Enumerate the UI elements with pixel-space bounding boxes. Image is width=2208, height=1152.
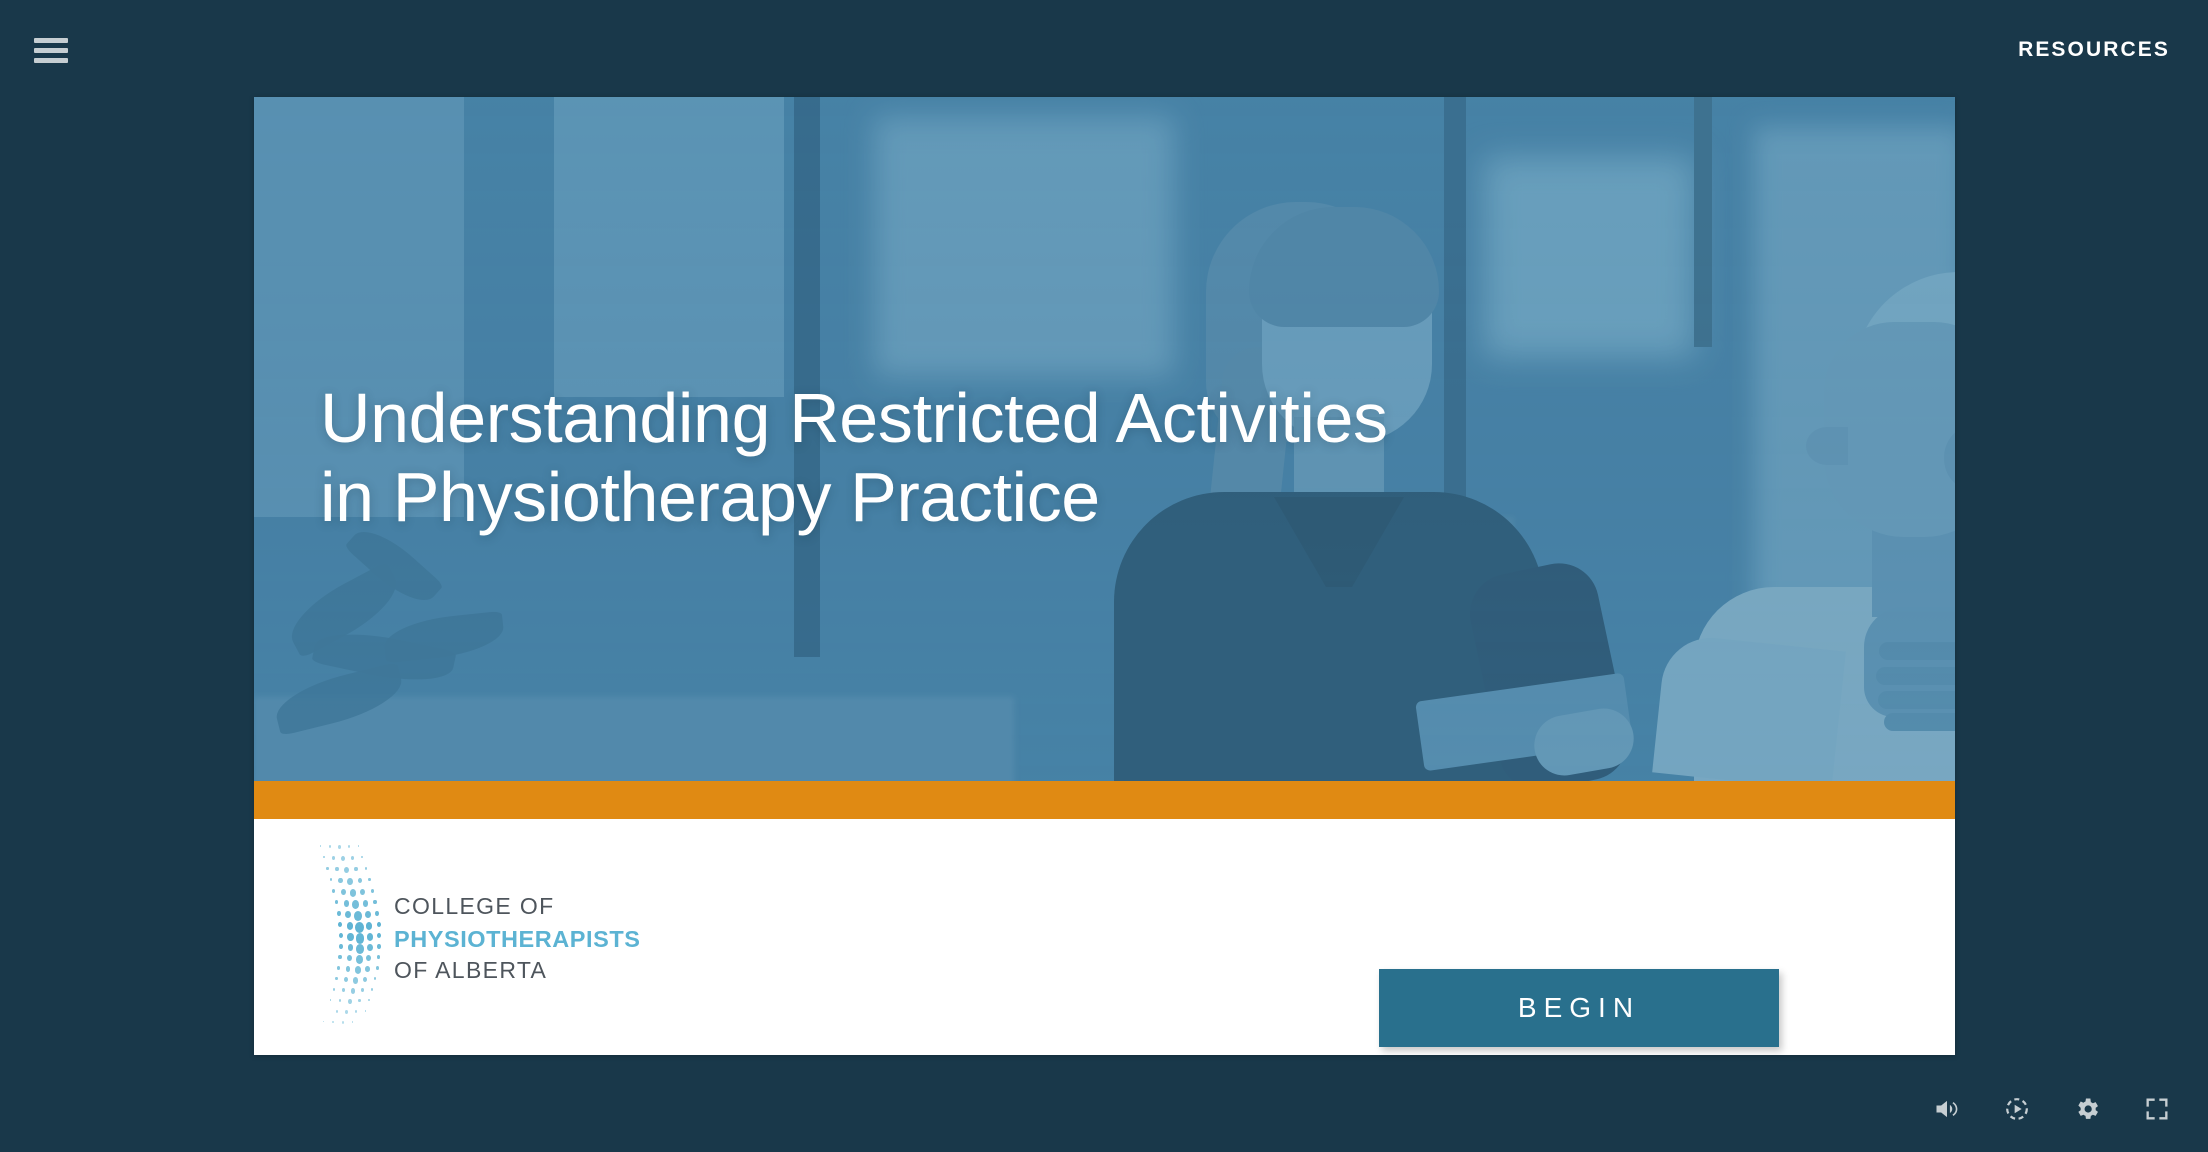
resources-link[interactable]: RESOURCES xyxy=(2018,38,2170,62)
spine-halftone-dots-icon xyxy=(306,841,380,1031)
accent-divider xyxy=(254,781,1955,819)
hamburger-bar-3 xyxy=(34,58,68,63)
player-controls xyxy=(1932,1094,2172,1124)
logo-line-2: PHYSIOTHERAPISTS xyxy=(394,923,640,955)
top-bar: RESOURCES xyxy=(0,0,2208,100)
page-title-line-1: Understanding Restricted Activities xyxy=(320,379,1388,457)
logo-line-1: COLLEGE OF xyxy=(394,891,640,923)
slide-footer: COLLEGE OF PHYSIOTHERAPISTS OF ALBERTA B… xyxy=(254,819,1955,1055)
hamburger-menu-icon[interactable] xyxy=(30,29,72,71)
replay-icon[interactable] xyxy=(2002,1094,2032,1124)
logo-wordmark: COLLEGE OF PHYSIOTHERAPISTS OF ALBERTA xyxy=(394,885,640,987)
begin-button[interactable]: BEGIN xyxy=(1379,969,1779,1047)
settings-icon[interactable] xyxy=(2072,1094,2102,1124)
page-title: Understanding Restricted Activities in P… xyxy=(320,379,1800,537)
hero-image: Understanding Restricted Activities in P… xyxy=(254,97,1955,781)
hamburger-bar-1 xyxy=(34,38,68,43)
page-title-line-2: in Physiotherapy Practice xyxy=(320,458,1800,537)
slide-card: Understanding Restricted Activities in P… xyxy=(254,97,1955,1055)
logo-line-3: OF ALBERTA xyxy=(394,955,640,987)
organization-logo: COLLEGE OF PHYSIOTHERAPISTS OF ALBERTA xyxy=(306,841,640,1031)
fullscreen-icon[interactable] xyxy=(2142,1094,2172,1124)
hamburger-bar-2 xyxy=(34,48,68,53)
volume-icon[interactable] xyxy=(1932,1094,1962,1124)
